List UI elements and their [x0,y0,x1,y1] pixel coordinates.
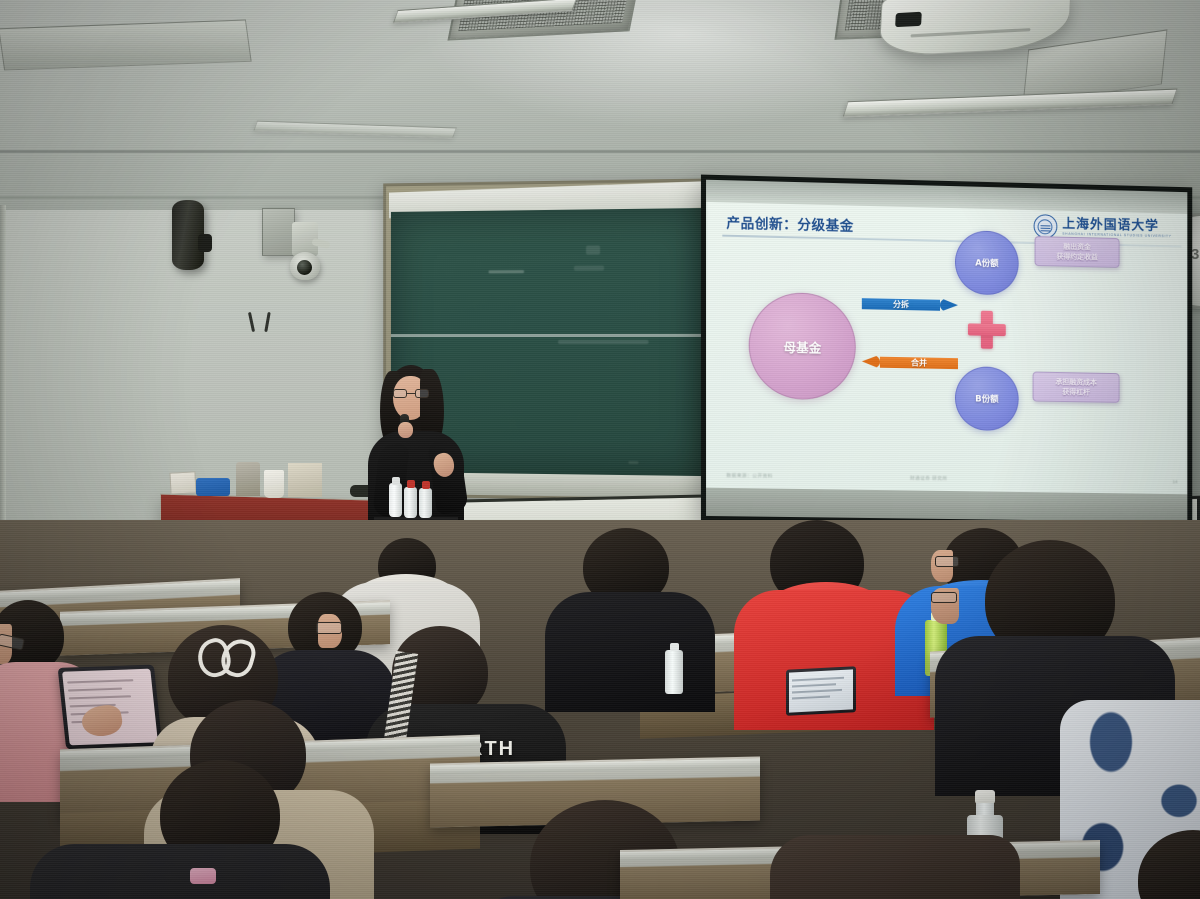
split-arrow: 分拆 [862,296,958,313]
audience-member [30,760,330,899]
diagram-share-b-circle: B份额 [955,366,1019,431]
ceiling-seam [0,150,1200,153]
bottle-cap [975,790,995,804]
water-bottle [419,481,432,518]
slide-page-number: 14 [1173,479,1178,484]
clock-numeral: 3 [1191,246,1199,263]
share-b-note-line2: 获得杠杆 [1039,387,1114,398]
share-a-note-line2: 获得约定收益 [1041,251,1114,263]
slide-footer-left: 数据来源：公开资料 [726,473,773,480]
lectern-item-paper-bag [288,463,322,497]
projector-seam [911,28,1031,37]
presentation-slide: 产品创新：分级基金 上海外国语大学 SHANGHAI INTERNATIONAL… [708,202,1185,494]
water-bottle [389,477,402,517]
screen-bottom-band [706,488,1187,522]
chalkboard-divider [391,334,704,337]
lecture-hall-photo: 2 3 5 产品创新：分级基金 [0,0,1200,899]
presenter-hand-with-mic [398,422,413,438]
glasses-icon [931,592,957,603]
merge-arrow-label: 合并 [911,357,927,368]
plus-sign-icon [968,310,1006,349]
share-a-label: A份额 [975,257,998,270]
slide-footer-center: 财通证券 研究所 [910,475,947,482]
slide-title: 产品创新：分级基金 [726,212,853,235]
university-seal-icon [1034,214,1058,238]
hair-bow [198,639,254,669]
diagram-parent-fund-circle: 母基金 [749,292,856,401]
water-bottle [665,650,683,694]
parent-fund-label: 母基金 [783,336,821,356]
audience-member [770,835,1010,899]
presenter-glasses-icon [393,389,429,398]
vent-flap [0,20,252,71]
share-a-note: 融出资金 获得约定收益 [1035,236,1120,268]
wall-hooks [250,312,284,334]
slide-footer: 数据来源：公开资料 财通证券 研究所 14 [708,472,1185,491]
lectern-item-grey-device [236,462,260,496]
hair-clip [190,868,216,884]
lectern-item-blue-pack [196,478,230,496]
wall-speaker-white [262,208,295,256]
wall-speaker-black [172,200,204,270]
logo-chinese-name: 上海外国语大学 [1062,218,1171,234]
security-camera-icon [290,252,320,280]
lectern-item-cup [264,470,284,498]
share-b-label: B份额 [975,392,998,404]
door-edge [0,205,6,535]
lectern-item-box [169,471,196,494]
laptop [786,666,856,716]
diagram-share-a-circle: A份额 [955,230,1019,295]
share-b-note: 承担融资成本 获得杠杆 [1033,372,1120,404]
merge-arrow: 合并 [860,354,958,371]
projection-screen: 产品创新：分级基金 上海外国语大学 SHANGHAI INTERNATIONAL… [701,175,1192,527]
projector-lens-icon [895,12,922,27]
water-bottle [404,480,417,518]
split-arrow-label: 分拆 [893,299,909,310]
